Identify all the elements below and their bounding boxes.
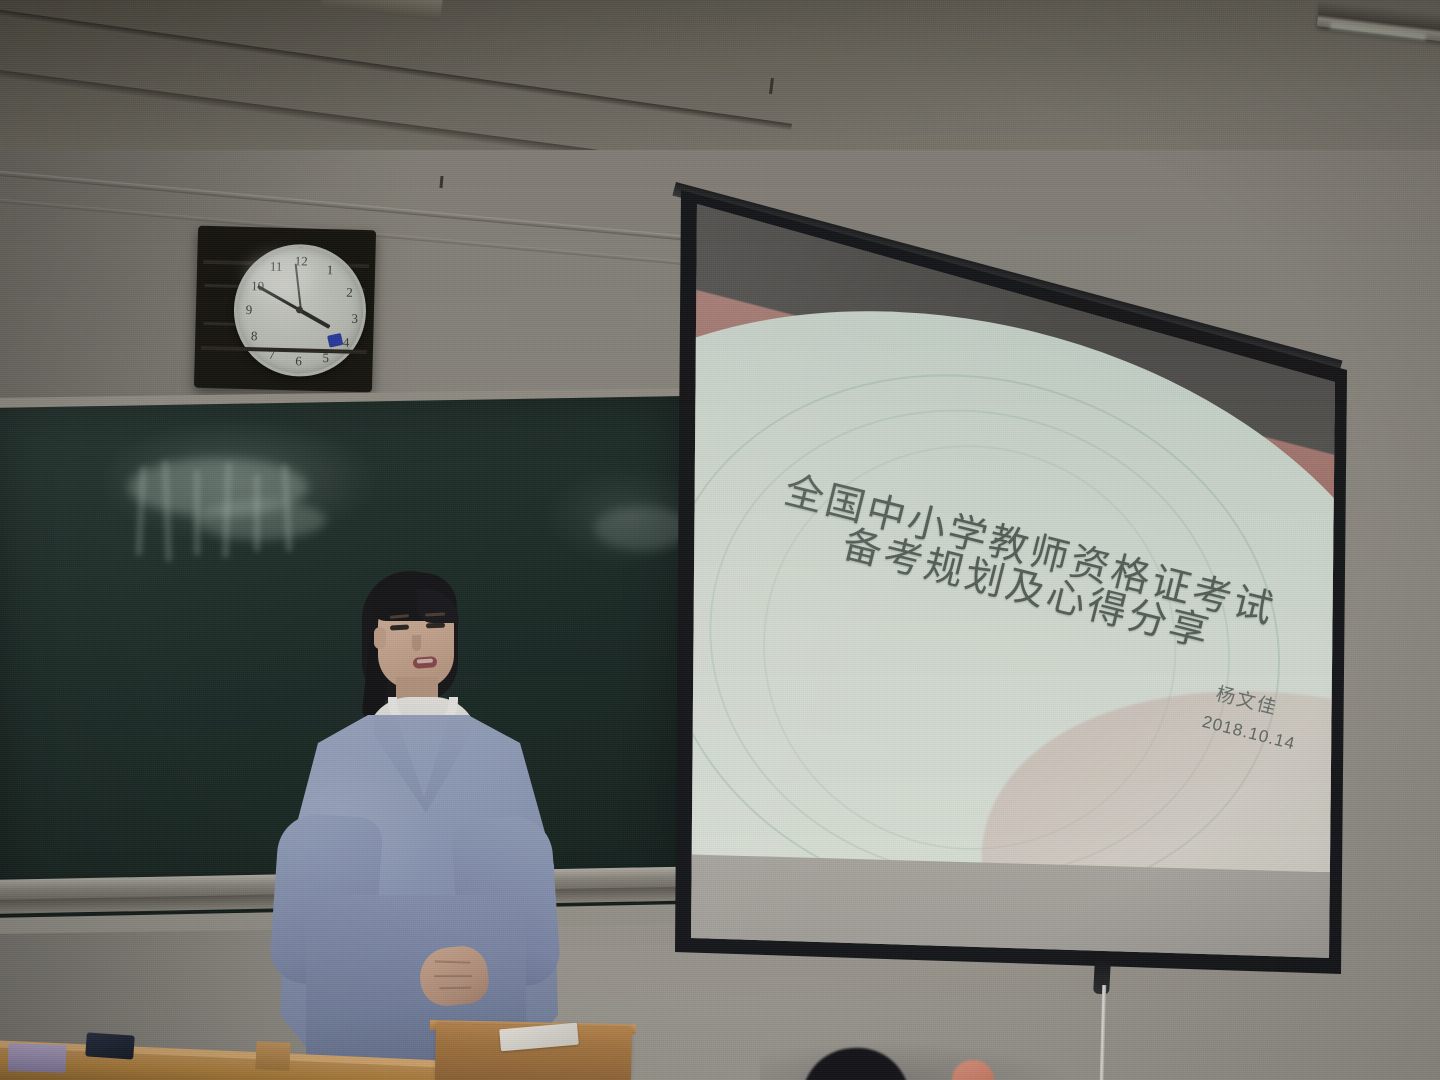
slide-date: 2018.10.14 <box>1200 712 1297 754</box>
screen-surface: 全国中小学教师资格证考试 备考规划及心得分享 杨文佳 2018.10.14 <box>675 182 1347 982</box>
dark-device-on-bench <box>85 1032 135 1059</box>
slide-author: 杨文佳 <box>1213 679 1281 720</box>
presenter-eye-left <box>390 625 409 631</box>
ceiling-light-top-fragment <box>321 0 443 21</box>
hand-crease-1 <box>435 960 471 963</box>
clock-num-9: 9 <box>241 302 257 318</box>
presenter <box>270 565 570 1065</box>
presenter-nose <box>412 635 421 651</box>
chalk-streak-5 <box>254 474 260 552</box>
projector-screen: 全国中小学教师资格证考试 备考规划及心得分享 杨文佳 2018.10.14 <box>675 182 1355 992</box>
beam-hook-1 <box>769 78 774 94</box>
presenter-eye-right <box>426 623 445 629</box>
clock-num-8: 8 <box>246 328 262 344</box>
clock-num-2: 2 <box>341 284 357 300</box>
hand-crease-3 <box>439 987 471 990</box>
bench-block <box>8 1043 67 1073</box>
classroom-photo-scene: 12 1 2 3 4 5 6 7 8 9 10 11 <box>0 0 1440 1080</box>
clock-num-7: 7 <box>264 346 280 362</box>
clock-num-1: 1 <box>322 262 338 278</box>
clock-num-3: 3 <box>347 311 363 327</box>
bench-notch <box>255 1041 290 1071</box>
clock-face: 12 1 2 3 4 5 6 7 8 9 10 11 <box>232 243 367 378</box>
presenter-ear <box>374 627 386 649</box>
clock-num-6: 6 <box>290 353 306 369</box>
hand-crease-2 <box>434 975 472 977</box>
chalk-smudge-2 <box>196 500 326 540</box>
chalk-streak-3 <box>194 470 200 556</box>
presenter-mouth <box>413 656 438 669</box>
wall-clock: 12 1 2 3 4 5 6 7 8 9 10 11 <box>194 226 376 393</box>
clock-hour-hand <box>299 309 331 329</box>
clock-num-5: 5 <box>318 350 334 366</box>
ceiling-beam-1 <box>0 4 792 131</box>
